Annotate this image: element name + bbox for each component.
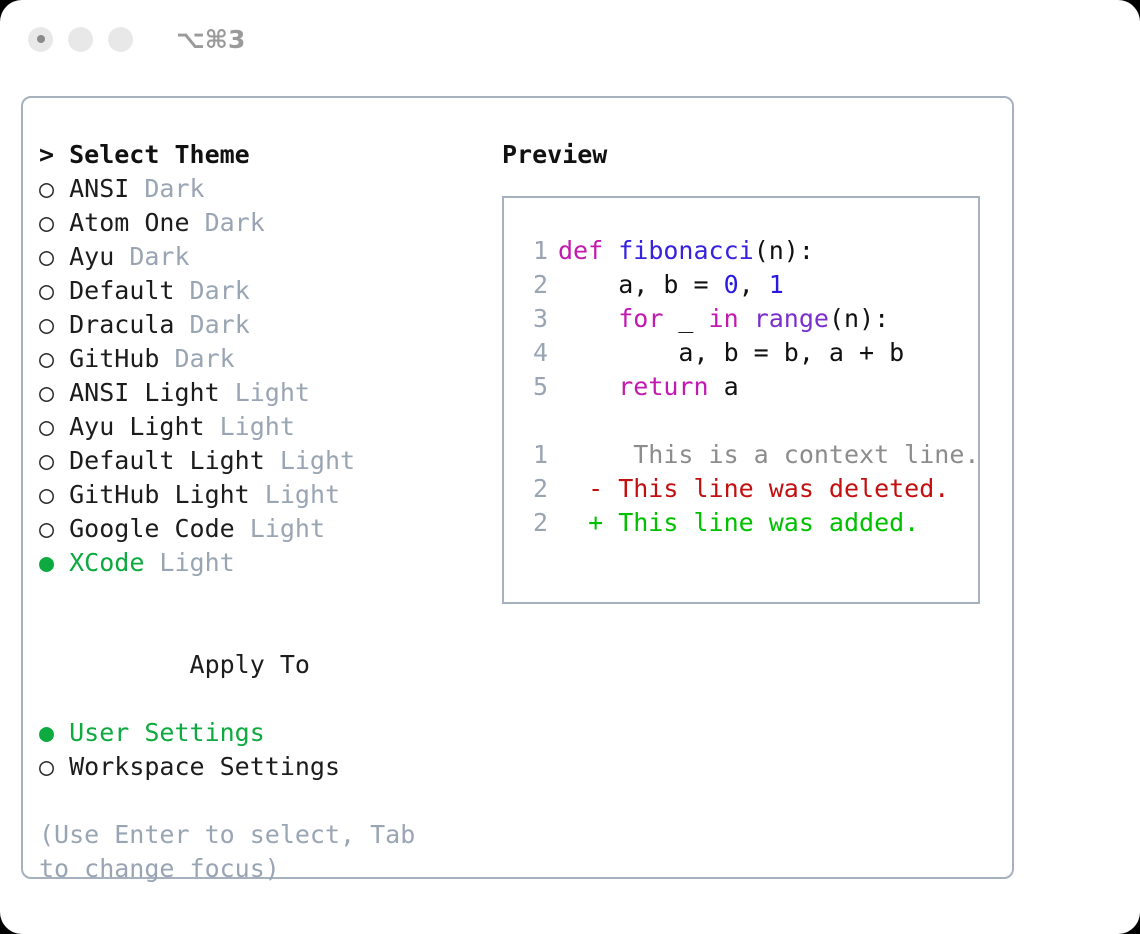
theme-item-label: Default Light xyxy=(54,446,265,475)
code-line: 4 a, b = b, a + b xyxy=(504,336,978,370)
code-token: a, b = xyxy=(558,270,724,299)
title-bar: ⌥⌘3 xyxy=(0,0,1140,78)
diff-marker xyxy=(558,440,603,469)
apply-to-item-label: User Settings xyxy=(54,718,265,747)
theme-item-ansi-light[interactable]: ○ ANSI Light Light xyxy=(39,376,499,410)
window-dot-active-icon[interactable] xyxy=(28,27,53,52)
theme-item-label: ANSI xyxy=(54,174,129,203)
theme-item-dracula[interactable]: ○ Dracula Dark xyxy=(39,308,499,342)
code-token: fibonacci xyxy=(618,236,753,265)
theme-item-github-light[interactable]: ○ GitHub Light Light xyxy=(39,478,499,512)
code-line: 2 a, b = 0, 1 xyxy=(504,268,978,302)
diff-line: 1 This is a context line. xyxy=(504,438,978,472)
theme-item-variant: Dark xyxy=(159,344,234,373)
theme-item-label: Google Code xyxy=(54,514,235,543)
window-dot-second-icon[interactable] xyxy=(68,27,93,52)
theme-item-default[interactable]: ○ Default Dark xyxy=(39,274,499,308)
diff-text: This is a context line. xyxy=(603,440,979,469)
theme-item-label: GitHub Light xyxy=(54,480,250,509)
line-number: 3 xyxy=(522,302,548,336)
diff-line: 2 + This line was added. xyxy=(504,506,978,540)
code-token: for xyxy=(618,304,663,333)
line-number: 2 xyxy=(522,506,548,540)
code-line: 1def fibonacci(n): xyxy=(504,234,978,268)
code-line: 3 for _ in range(n): xyxy=(504,302,978,336)
diff-marker: + xyxy=(558,508,603,537)
apply-to-header: Apply To xyxy=(39,614,499,716)
code-token: , xyxy=(739,270,769,299)
theme-item-label: Default xyxy=(54,276,174,305)
preview-box: 1def fibonacci(n):2 a, b = 0, 13 for _ i… xyxy=(502,196,980,604)
radio-unselected-icon: ○ xyxy=(39,208,54,237)
code-token: return xyxy=(618,372,708,401)
theme-item-variant: Dark xyxy=(129,174,204,203)
list-spacer xyxy=(39,580,499,614)
theme-column: > Select Theme ○ ANSI Dark○ Atom One Dar… xyxy=(39,138,499,886)
code-diff-gap xyxy=(504,404,978,438)
theme-item-variant: Dark xyxy=(114,242,189,271)
preview-column: Preview 1def fibonacci(n):2 a, b = 0, 13… xyxy=(502,138,1002,604)
preview-header: Preview xyxy=(502,138,1002,172)
radio-unselected-icon: ○ xyxy=(39,310,54,339)
code-token: range xyxy=(754,304,829,333)
radio-unselected-icon: ○ xyxy=(39,412,54,441)
apply-to-label: Apply To xyxy=(190,650,310,679)
theme-list: ○ ANSI Dark○ Atom One Dark○ Ayu Dark○ De… xyxy=(39,172,499,580)
radio-unselected-icon: ○ xyxy=(39,514,54,543)
diff-line: 2 - This line was deleted. xyxy=(504,472,978,506)
code-token: a xyxy=(709,372,739,401)
radio-unselected-icon: ○ xyxy=(39,242,54,271)
select-theme-header: > Select Theme xyxy=(39,138,499,172)
keyboard-hint: (Use Enter to select, Tab to change focu… xyxy=(39,818,459,886)
theme-item-variant: Light xyxy=(144,548,234,577)
diff-sample: 1 This is a context line.2 - This line w… xyxy=(504,438,978,540)
theme-item-label: XCode xyxy=(54,548,144,577)
window-controls xyxy=(28,27,133,52)
theme-item-xcode[interactable]: ● XCode Light xyxy=(39,546,499,580)
window-dot-third-icon[interactable] xyxy=(108,27,133,52)
app-window: ⌥⌘3 > Select Theme ○ ANSI Dark○ Atom One… xyxy=(0,0,1140,934)
theme-item-atom-one[interactable]: ○ Atom One Dark xyxy=(39,206,499,240)
code-token: 1 xyxy=(769,270,784,299)
line-number: 1 xyxy=(522,438,548,472)
code-line: 5 return a xyxy=(504,370,978,404)
theme-item-variant: Light xyxy=(220,378,310,407)
line-number: 5 xyxy=(522,370,548,404)
code-token: (n): xyxy=(754,236,814,265)
code-token: _ xyxy=(663,304,708,333)
apply-to-item-label: Workspace Settings xyxy=(54,752,340,781)
theme-item-label: Atom One xyxy=(54,208,189,237)
theme-item-variant: Light xyxy=(250,480,340,509)
apply-to-list: ● User Settings○ Workspace Settings xyxy=(39,716,499,784)
line-number: 2 xyxy=(522,472,548,506)
code-token xyxy=(558,304,618,333)
radio-selected-icon: ● xyxy=(39,548,54,577)
theme-item-variant: Dark xyxy=(174,310,249,339)
radio-unselected-icon: ○ xyxy=(39,752,54,781)
theme-item-label: Ayu Light xyxy=(54,412,205,441)
theme-item-label: Dracula xyxy=(54,310,174,339)
radio-unselected-icon: ○ xyxy=(39,276,54,305)
theme-item-label: GitHub xyxy=(54,344,159,373)
radio-unselected-icon: ○ xyxy=(39,344,54,373)
theme-item-variant: Light xyxy=(235,514,325,543)
apply-to-item-user-settings[interactable]: ● User Settings xyxy=(39,716,499,750)
theme-item-variant: Dark xyxy=(190,208,265,237)
radio-unselected-icon: ○ xyxy=(39,480,54,509)
radio-unselected-icon: ○ xyxy=(39,378,54,407)
theme-item-variant: Light xyxy=(265,446,355,475)
apply-to-item-workspace-settings[interactable]: ○ Workspace Settings xyxy=(39,750,499,784)
theme-item-variant: Light xyxy=(205,412,295,441)
radio-unselected-icon: ○ xyxy=(39,174,54,203)
diff-marker: - xyxy=(558,474,603,503)
radio-unselected-icon: ○ xyxy=(39,446,54,475)
code-token: (n): xyxy=(829,304,889,333)
theme-item-ayu[interactable]: ○ Ayu Dark xyxy=(39,240,499,274)
code-token xyxy=(558,372,618,401)
code-token xyxy=(739,304,754,333)
theme-item-ansi[interactable]: ○ ANSI Dark xyxy=(39,172,499,206)
theme-item-label: Ayu xyxy=(54,242,114,271)
theme-selector-panel: > Select Theme ○ ANSI Dark○ Atom One Dar… xyxy=(21,96,1014,879)
code-token: 0 xyxy=(724,270,739,299)
theme-item-github[interactable]: ○ GitHub Dark xyxy=(39,342,499,376)
diff-text: This line was deleted. xyxy=(603,474,949,503)
code-sample: 1def fibonacci(n):2 a, b = 0, 13 for _ i… xyxy=(504,234,978,404)
diff-text: This line was added. xyxy=(603,508,919,537)
line-number: 4 xyxy=(522,336,548,370)
code-token: a, b = b, a + b xyxy=(558,338,904,367)
keyboard-shortcut-label: ⌥⌘3 xyxy=(176,25,245,54)
code-token: in xyxy=(709,304,739,333)
radio-selected-icon: ● xyxy=(39,718,54,747)
theme-item-google-code[interactable]: ○ Google Code Light xyxy=(39,512,499,546)
theme-item-default-light[interactable]: ○ Default Light Light xyxy=(39,444,499,478)
theme-item-ayu-light[interactable]: ○ Ayu Light Light xyxy=(39,410,499,444)
line-number: 1 xyxy=(522,234,548,268)
theme-item-variant: Dark xyxy=(174,276,249,305)
theme-item-label: ANSI Light xyxy=(54,378,220,407)
code-token: def xyxy=(558,236,618,265)
line-number: 2 xyxy=(522,268,548,302)
